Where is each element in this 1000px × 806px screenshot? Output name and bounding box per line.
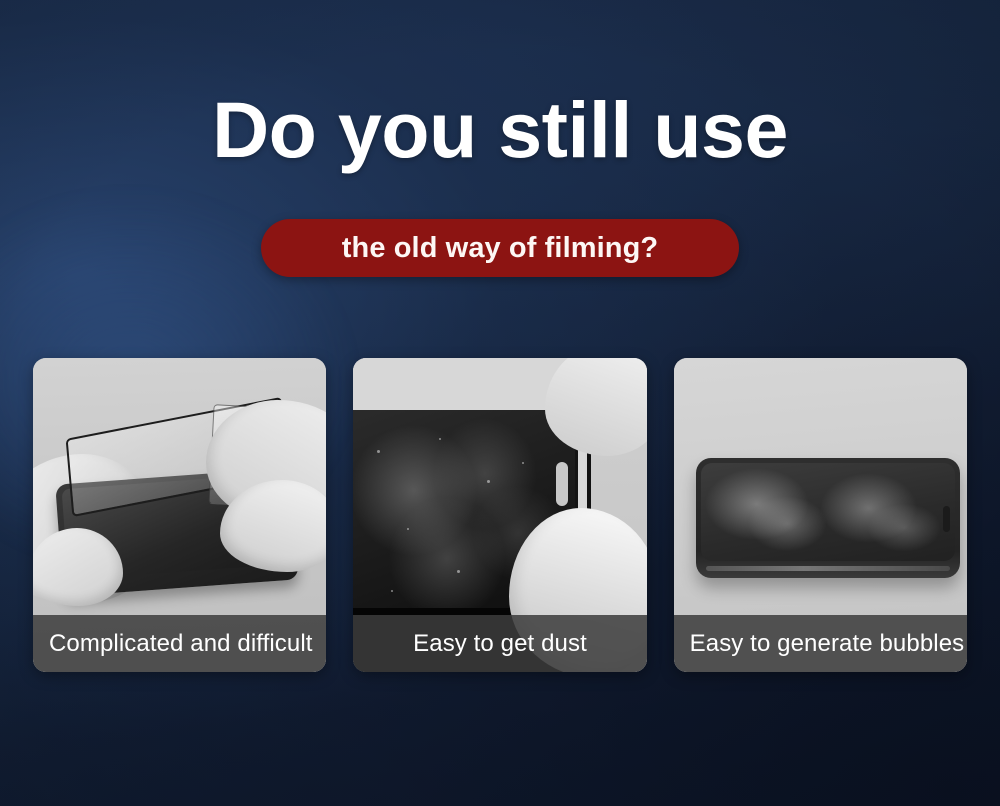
dust-speck <box>439 438 441 440</box>
dust-speck <box>487 480 490 483</box>
page-title: Do you still use <box>0 88 1000 172</box>
card-complicated[interactable]: Complicated and difficult <box>33 358 326 672</box>
phone-button-shape <box>556 462 568 506</box>
phone-edge-shape <box>706 566 950 571</box>
dust-speck <box>377 450 380 453</box>
phone-shape <box>696 458 960 578</box>
card-caption: Complicated and difficult <box>33 615 326 672</box>
dust-speck <box>457 570 460 573</box>
bubbled-screen-shape <box>701 463 955 561</box>
card-caption: Easy to generate bubbles <box>674 615 967 672</box>
card-caption: Easy to get dust <box>353 615 646 672</box>
subtitle-badge: the old way of filming? <box>261 219 739 277</box>
dust-speck <box>391 590 393 592</box>
dust-speck <box>407 528 409 530</box>
card-bubbles[interactable]: Easy to generate bubbles <box>674 358 967 672</box>
phone-notch-shape <box>943 506 950 532</box>
card-dust[interactable]: Easy to get dust <box>353 358 646 672</box>
dust-speck <box>522 462 524 464</box>
feature-card-row: Complicated and difficult Easy to get du… <box>33 358 967 672</box>
badge-row: the old way of filming? <box>0 219 1000 277</box>
